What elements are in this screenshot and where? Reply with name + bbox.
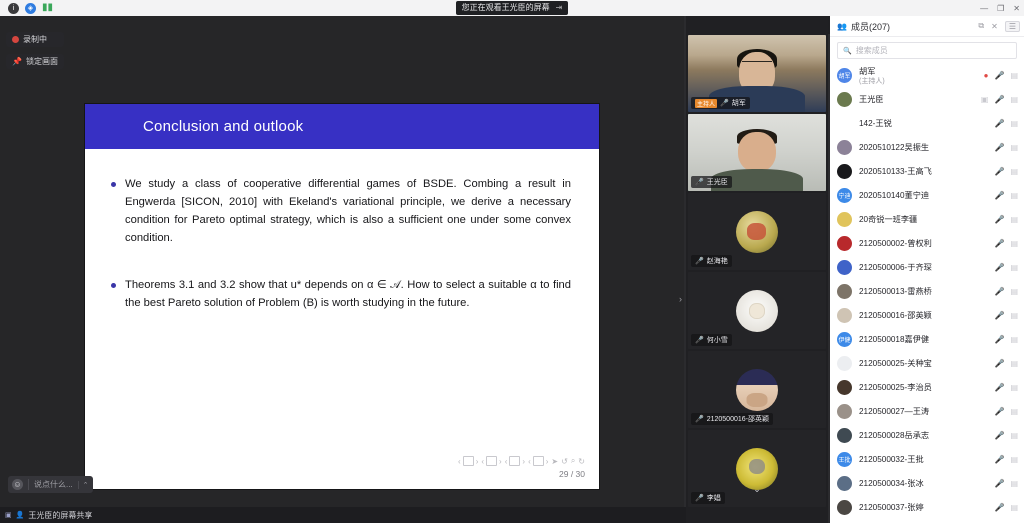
participant-info: 2120500002-曾权利 [859, 237, 994, 249]
avatar [837, 404, 852, 419]
participant-info: 142-王锐 [859, 117, 994, 129]
participant-info: 王光臣 [859, 93, 981, 105]
screen-share-icon[interactable]: ▣ [981, 95, 989, 104]
participant-info: 2020510122吴振生 [859, 141, 994, 153]
participant-actions: 🎤▤ [994, 287, 1018, 296]
camera-icon[interactable]: ▤ [1010, 287, 1018, 296]
participant-info: 2120500006-于齐琛 [859, 261, 994, 273]
mic-muted-icon[interactable]: 🎤 [994, 479, 1004, 488]
camera-icon[interactable]: ▤ [1010, 95, 1018, 104]
video-tile-nameplate: 🎤 2120500016-邵英颖 [691, 413, 773, 425]
participants-panel-title: 成员(207) [851, 20, 971, 33]
participant-info: 2020510140董宁迪 [859, 189, 994, 201]
participant-row[interactable]: 王批2120500032-王批🎤▤ [830, 447, 1024, 471]
avatar-initials: 胡军 [837, 68, 852, 83]
pdf-toolbar: ‹› ‹› ‹› ‹› ➤ ↺ ⌕ ↻ 29 / 30 [85, 456, 599, 479]
participant-row[interactable]: 王光臣▣🎤▤ [830, 87, 1024, 111]
participant-info: 2120500034-张冰 [859, 477, 994, 489]
mic-muted-icon[interactable]: 🎤 [994, 407, 1004, 416]
share-banner-collapse-icon[interactable]: ⇥ [556, 2, 563, 14]
participant-row[interactable]: 2120500025-关种宝🎤▤ [830, 351, 1024, 375]
mic-icon: 🎤 [695, 178, 704, 186]
avatar: 伊健 [837, 332, 852, 347]
participant-actions: 🎤▤ [994, 143, 1018, 152]
slide-bullet-text: We study a class of cooperative differen… [125, 175, 571, 248]
search-input[interactable]: 🔍 搜索成员 [837, 42, 1017, 59]
participant-row[interactable]: 142-王锐🎤▤ [830, 111, 1024, 135]
share-banner-wrap: 您正在观看王光臣的屏幕 ⇥ [0, 1, 1024, 15]
avatar-initials: 宁迪 [837, 188, 852, 203]
avatar [837, 308, 852, 323]
info-icon[interactable]: i [8, 3, 19, 14]
participant-row[interactable]: 2020510133-王高飞🎤▤ [830, 159, 1024, 183]
avatar [837, 260, 852, 275]
stage-collapse-arrow-icon[interactable]: › [679, 294, 682, 304]
mic-muted-icon: 🎤 [695, 336, 704, 344]
camera-icon[interactable]: ▤ [1010, 383, 1018, 392]
pin-icon: 📌 [12, 57, 22, 66]
share-banner[interactable]: 您正在观看王光臣的屏幕 ⇥ [456, 1, 569, 15]
participant-name: 2120500028岳承志 [859, 429, 994, 441]
mic-muted-icon: 🎤 [695, 415, 704, 423]
avatar: 胡军 [837, 68, 852, 83]
avatar [837, 140, 852, 155]
search-placeholder: 搜索成员 [856, 45, 888, 56]
search-icon: 🔍 [843, 47, 852, 55]
avatar-initials: 伊健 [837, 332, 852, 347]
pdf-next-page-button[interactable]: ‹› [505, 456, 525, 466]
participant-info: 2120500032-王批 [859, 453, 994, 465]
participant-row[interactable]: 2120500037-张婷🎤▤ [830, 495, 1024, 519]
participant-actions: 🎤▤ [994, 119, 1018, 128]
video-tile-name: 2120500016-邵英颖 [707, 414, 769, 424]
window-left-icons: i ◈ ▮▮ [0, 3, 53, 14]
participant-row[interactable]: 2120500002-曾权利🎤▤ [830, 231, 1024, 255]
participants-panel-header: 👥 成员(207) ⧉ ✕ ☰ [830, 16, 1024, 37]
participants-search-wrap: 🔍 搜索成员 [830, 37, 1024, 63]
participant-row[interactable]: 2120500013-雷燕桥🎤▤ [830, 279, 1024, 303]
meeting-app-window: i ◈ ▮▮ 您正在观看王光臣的屏幕 ⇥ — ❐ ✕ 录制中 📌 锁定画面 [0, 0, 1024, 523]
chat-input-bar[interactable]: ☺ 说点什么... ⌃ [8, 476, 93, 493]
camera-icon[interactable]: ▤ [1010, 119, 1018, 128]
mic-muted-icon[interactable]: 🎤 [994, 287, 1004, 296]
close-icon[interactable]: ✕ [991, 22, 998, 31]
pdf-undo-icon[interactable]: ↺ [561, 457, 568, 466]
filmstrip-scroll-down-icon[interactable]: ⌄ [753, 484, 761, 495]
signal-icon[interactable]: ▮▮ [42, 3, 53, 14]
mic-muted-icon[interactable]: 🎤 [994, 71, 1004, 80]
participant-actions: 🎤▤ [994, 215, 1018, 224]
video-tile-name: 胡军 [732, 98, 746, 108]
pdf-prev-page-button[interactable]: ‹› [481, 456, 501, 466]
camera-icon[interactable]: ▤ [1010, 239, 1018, 248]
participant-role: (主持人) [859, 76, 984, 86]
camera-icon[interactable]: ▤ [1010, 503, 1018, 512]
participant-info: 2120500037-张婷 [859, 501, 994, 513]
menu-icon[interactable]: ☰ [1005, 21, 1020, 32]
participant-actions: 🎤▤ [994, 335, 1018, 344]
mic-muted-icon[interactable]: 🎤 [994, 311, 1004, 320]
participant-actions: 🎤▤ [994, 407, 1018, 416]
participants-list[interactable]: 胡军胡军(主持人)●🎤▤王光臣▣🎤▤142-王锐🎤▤2020510122吴振生🎤… [830, 63, 1024, 521]
video-tile[interactable]: 🎤 赵海艳 [688, 193, 826, 270]
avatar: 宁迪 [837, 188, 852, 203]
mic-muted-icon[interactable]: 🎤 [994, 383, 1004, 392]
pdf-redo-icon[interactable]: ↻ [578, 457, 585, 466]
participant-actions: 🎤▤ [994, 167, 1018, 176]
participant-row[interactable]: 2120500027—王涛🎤▤ [830, 399, 1024, 423]
screen-share-icon: ▣ [5, 511, 12, 519]
taskbar-label[interactable]: 王光臣的屏幕共享 [28, 510, 92, 521]
camera-icon[interactable]: ▤ [1010, 263, 1018, 272]
mic-muted-icon: 🎤 [695, 494, 704, 502]
host-badge: 主持人 [695, 99, 717, 108]
participant-actions: 🎤▤ [994, 431, 1018, 440]
pdf-page-indicator: 29 / 30 [559, 469, 585, 479]
participant-row[interactable]: 2120500034-张冰🎤▤ [830, 471, 1024, 495]
pdf-nav-controls: ‹› ‹› ‹› ‹› ➤ ↺ ⌕ ↻ [458, 456, 585, 466]
camera-icon[interactable]: ▤ [1010, 335, 1018, 344]
mic-icon: 🎤 [720, 99, 729, 107]
window-controls: — ❐ ✕ [980, 4, 1020, 13]
participant-row[interactable]: 2020510122吴振生🎤▤ [830, 135, 1024, 159]
maximize-button[interactable]: ❐ [997, 4, 1004, 13]
participant-actions: 🎤▤ [994, 503, 1018, 512]
participant-info: 2120500025-关种宝 [859, 357, 994, 369]
participant-info: 2120500018嘉伊健 [859, 333, 994, 345]
mic-muted-icon[interactable]: 🎤 [994, 119, 1004, 128]
mic-muted-icon[interactable]: 🎤 [994, 335, 1004, 344]
mic-muted-icon[interactable]: 🎤 [994, 143, 1004, 152]
stage-badges: 录制中 📌 锁定画面 [6, 32, 64, 69]
camera-icon[interactable]: ▤ [1010, 311, 1018, 320]
close-button[interactable]: ✕ [1013, 4, 1020, 13]
avatar [736, 290, 778, 332]
participant-row[interactable]: 2120500025-李治员🎤▤ [830, 375, 1024, 399]
members-icon: 👥 [837, 22, 847, 31]
participant-name: 2120500037-张婷 [859, 501, 994, 513]
video-tile[interactable]: ⌄ 🎤 李娼 [688, 430, 826, 507]
participant-info: 20奇锐一班李疆 [859, 213, 994, 225]
participant-info: 2020510133-王高飞 [859, 165, 994, 177]
video-tile[interactable]: 🎤 何小雪 [688, 272, 826, 349]
camera-icon[interactable]: ▤ [1010, 191, 1018, 200]
mic-muted-icon[interactable]: 🎤 [994, 503, 1004, 512]
participant-row[interactable]: 2120510061-葛屿源🎤▤ [830, 519, 1024, 521]
participant-name: 2120500016-邵英颖 [859, 309, 994, 321]
mic-muted-icon[interactable]: 🎤 [994, 263, 1004, 272]
video-tile-nameplate: 🎤 何小雪 [691, 334, 732, 346]
participant-row[interactable]: 胡军胡军(主持人)●🎤▤ [830, 63, 1024, 87]
camera-icon[interactable]: ▤ [1010, 167, 1018, 176]
participant-info: 2120500028岳承志 [859, 429, 994, 441]
participant-row[interactable]: 2120500016-邵英颖🎤▤ [830, 303, 1024, 327]
shared-screen-stage: 录制中 📌 锁定画面 Conclusion and outlook We stu… [0, 16, 684, 523]
participant-actions: 🎤▤ [994, 191, 1018, 200]
avatar [837, 284, 852, 299]
participant-name: 2120500006-于齐琛 [859, 261, 994, 273]
avatar [837, 116, 852, 131]
avatar [837, 236, 852, 251]
participant-info: 2120500025-李治员 [859, 381, 994, 393]
participant-row[interactable]: 伊健2120500018嘉伊健🎤▤ [830, 327, 1024, 351]
slide-page[interactable]: Conclusion and outlook We study a class … [85, 104, 599, 489]
camera-icon[interactable]: ▤ [1010, 431, 1018, 440]
participant-info: 2120500027—王涛 [859, 405, 994, 417]
mic-muted-icon: 🎤 [695, 257, 704, 265]
participant-name: 2020510133-王高飞 [859, 165, 994, 177]
participant-actions: 🎤▤ [994, 455, 1018, 464]
participant-row[interactable]: 2120500028岳承志🎤▤ [830, 423, 1024, 447]
participant-info: 胡军(主持人) [859, 65, 984, 86]
participants-panel: 👥 成员(207) ⧉ ✕ ☰ 🔍 搜索成员 胡军胡军(主持人)●🎤▤王光臣▣🎤… [830, 16, 1024, 523]
popout-icon[interactable]: ⧉ [978, 21, 984, 31]
participant-name: 2120500002-曾权利 [859, 237, 994, 249]
avatar-initials: 王批 [837, 452, 852, 467]
avatar: 王批 [837, 452, 852, 467]
share-banner-text: 您正在观看王光臣的屏幕 [462, 2, 550, 14]
recording-badge: 录制中 [6, 32, 64, 47]
participant-name: 142-王锐 [859, 117, 994, 129]
pdf-zoom-icon[interactable]: ⌕ [571, 456, 575, 466]
video-tile-name: 王光臣 [707, 177, 728, 187]
user-icon: 👤 [16, 511, 25, 519]
avatar [837, 212, 852, 227]
avatar [837, 92, 852, 107]
os-taskbar: ▣ 👤 王光臣的屏幕共享 [0, 507, 689, 523]
emoji-icon[interactable]: ☺ [12, 479, 23, 490]
mic-muted-icon[interactable]: 🎤 [994, 239, 1004, 248]
avatar [837, 428, 852, 443]
participant-info: 2120500013-雷燕桥 [859, 285, 994, 297]
bullet-dot-icon [111, 182, 116, 187]
camera-icon[interactable]: ▤ [1010, 71, 1018, 80]
video-tile-nameplate: 🎤 李娼 [691, 492, 725, 504]
participant-actions: 🎤▤ [994, 263, 1018, 272]
participant-actions: ▣🎤▤ [981, 95, 1018, 104]
window-title-bar: i ◈ ▮▮ 您正在观看王光臣的屏幕 ⇥ — ❐ ✕ [0, 0, 1024, 16]
participant-name: 2120500034-张冰 [859, 477, 994, 489]
slide-body: We study a class of cooperative differen… [85, 149, 599, 312]
avatar [837, 500, 852, 515]
avatar [837, 380, 852, 395]
participant-row[interactable]: 宁迪2020510140董宁迪🎤▤ [830, 183, 1024, 207]
pdf-last-page-button[interactable]: ‹› [528, 456, 548, 466]
video-tile[interactable]: 主持人 🎤 胡军 [688, 35, 826, 112]
chat-expand-icon[interactable]: ⌃ [78, 481, 89, 489]
pdf-pointer-icon[interactable]: ➤ [551, 457, 558, 466]
avatar [736, 211, 778, 253]
participant-row[interactable]: 20奇锐一班李疆🎤▤ [830, 207, 1024, 231]
participant-row[interactable]: 2120500006-于齐琛🎤▤ [830, 255, 1024, 279]
video-tile-name: 李娼 [707, 493, 721, 503]
participant-actions: 🎤▤ [994, 479, 1018, 488]
pdf-first-page-button[interactable]: ‹› [458, 456, 478, 466]
mic-icon[interactable]: 🎤 [994, 95, 1004, 104]
chat-input-placeholder[interactable]: 说点什么... [28, 479, 73, 490]
participant-name: 王光臣 [859, 93, 981, 105]
video-tile-nameplate: 🎤 赵海艳 [691, 255, 732, 267]
participant-actions: 🎤▤ [994, 359, 1018, 368]
avatar [837, 164, 852, 179]
participant-name: 2120500025-关种宝 [859, 357, 994, 369]
shield-icon[interactable]: ◈ [25, 3, 36, 14]
slide-bullet: Theorems 3.1 and 3.2 show that u* depend… [111, 276, 571, 312]
avatar [837, 476, 852, 491]
video-tile[interactable]: 🎤 王光臣 [688, 114, 826, 191]
slide-title-bar: Conclusion and outlook [85, 104, 599, 149]
video-tile-nameplate: 🎤 王光臣 [691, 176, 732, 188]
camera-icon[interactable]: ▤ [1010, 407, 1018, 416]
mic-muted-icon[interactable]: 🎤 [994, 215, 1004, 224]
camera-icon[interactable]: ▤ [1010, 215, 1018, 224]
video-tile-name: 赵海艳 [707, 256, 728, 266]
recording-dot-icon [12, 36, 19, 43]
pin-badge[interactable]: 📌 锁定画面 [6, 54, 64, 69]
mic-muted-icon[interactable]: 🎤 [994, 359, 1004, 368]
participant-actions: 🎤▤ [994, 383, 1018, 392]
participant-name: 2120500018嘉伊健 [859, 333, 994, 345]
participant-actions: 🎤▤ [994, 311, 1018, 320]
camera-icon[interactable]: ▤ [1010, 455, 1018, 464]
camera-icon[interactable]: ▤ [1010, 359, 1018, 368]
video-tile[interactable]: 🎤 2120500016-邵英颖 [688, 351, 826, 428]
mic-muted-icon[interactable]: 🎤 [994, 191, 1004, 200]
slide-title: Conclusion and outlook [85, 118, 303, 135]
recording-label: 录制中 [23, 34, 47, 45]
slide-bullet: We study a class of cooperative differen… [111, 175, 571, 248]
camera-icon[interactable]: ▤ [1010, 479, 1018, 488]
slide-bullet-text: Theorems 3.1 and 3.2 show that u* depend… [125, 276, 571, 312]
participant-name: 20奇锐一班李疆 [859, 213, 994, 225]
participant-name: 2120500013-雷燕桥 [859, 285, 994, 297]
bullet-dot-icon [111, 283, 116, 288]
participant-name: 2020510122吴振生 [859, 141, 994, 153]
participant-actions: ●🎤▤ [984, 71, 1018, 80]
mic-muted-icon[interactable]: 🎤 [994, 167, 1004, 176]
participant-name: 2120500032-王批 [859, 453, 994, 465]
participant-info: 2120500016-邵英颖 [859, 309, 994, 321]
video-tile-nameplate: 主持人 🎤 胡军 [691, 97, 750, 109]
avatar [736, 369, 778, 411]
pin-label: 锁定画面 [26, 56, 58, 67]
participant-name: 2120500025-李治员 [859, 381, 994, 393]
participant-actions: 🎤▤ [994, 239, 1018, 248]
camera-icon[interactable]: ▤ [1010, 143, 1018, 152]
mic-muted-icon[interactable]: 🎤 [994, 455, 1004, 464]
video-tile-name: 何小雪 [707, 335, 728, 345]
recording-indicator-icon[interactable]: ● [984, 71, 989, 80]
participant-name: 2020510140董宁迪 [859, 189, 994, 201]
mic-muted-icon[interactable]: 🎤 [994, 431, 1004, 440]
avatar [837, 356, 852, 371]
minimize-button[interactable]: — [980, 4, 988, 13]
video-filmstrip[interactable]: 主持人 🎤 胡军 🎤 王光臣 🎤 赵海艳 🎤 [686, 16, 828, 523]
participant-name: 2120500027—王涛 [859, 405, 994, 417]
